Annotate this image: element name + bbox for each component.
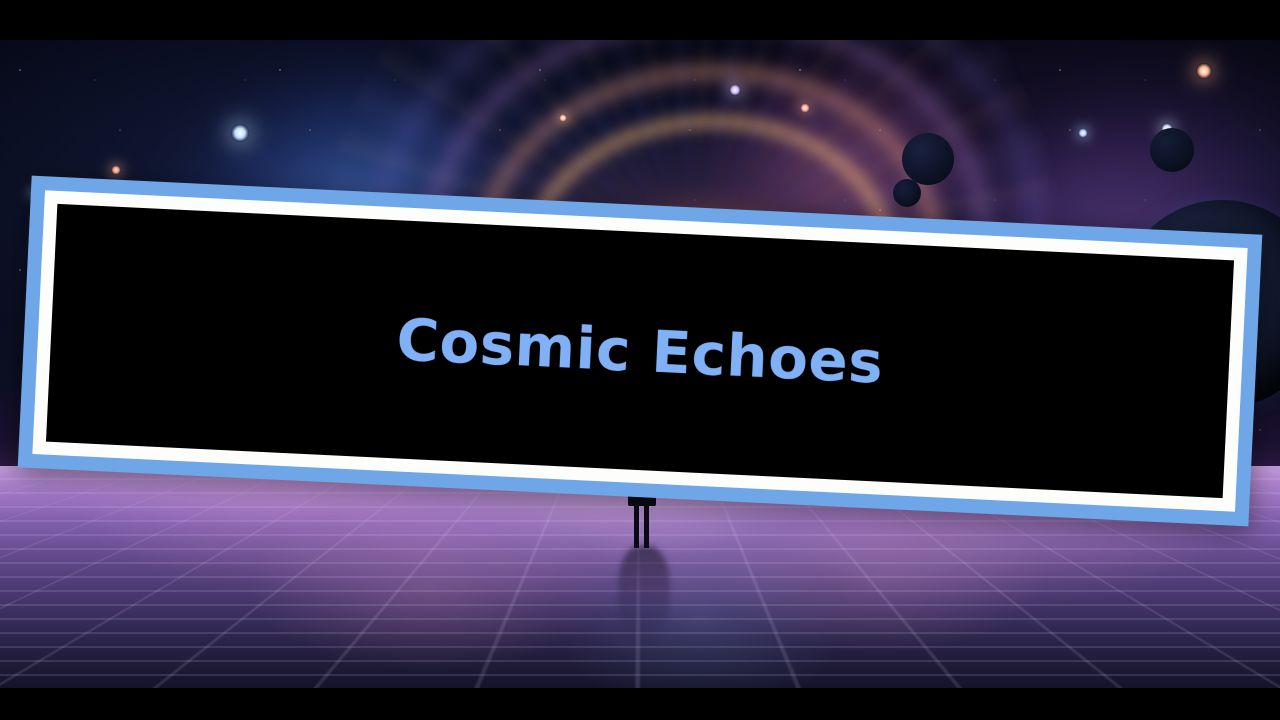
figure-leg-right	[644, 504, 649, 548]
amber-star-center	[559, 114, 567, 122]
amber-star-upper-right	[1196, 63, 1212, 79]
title-card-field: Cosmic Echoes	[46, 204, 1234, 498]
page-title: Cosmic Echoes	[355, 308, 924, 393]
twin-planet-lower	[893, 179, 921, 207]
figure-leg-left	[634, 504, 639, 548]
letterbox-bar-bottom	[0, 688, 1280, 720]
amber-star-left	[111, 165, 121, 175]
title-card: Cosmic Echoes	[18, 176, 1263, 527]
title-card-inner-border: Cosmic Echoes	[32, 190, 1247, 511]
screenshot-stage: Cosmic Echoes	[0, 0, 1280, 720]
blue-giant	[231, 124, 249, 142]
amber-star-mid	[800, 103, 810, 113]
figure-reflection	[618, 546, 670, 644]
small-moon	[1150, 128, 1194, 172]
violet-star	[729, 84, 741, 96]
letterbox-bar-top	[0, 0, 1280, 40]
twin-planet-upper	[902, 133, 954, 185]
blue-star-right	[1078, 128, 1088, 138]
